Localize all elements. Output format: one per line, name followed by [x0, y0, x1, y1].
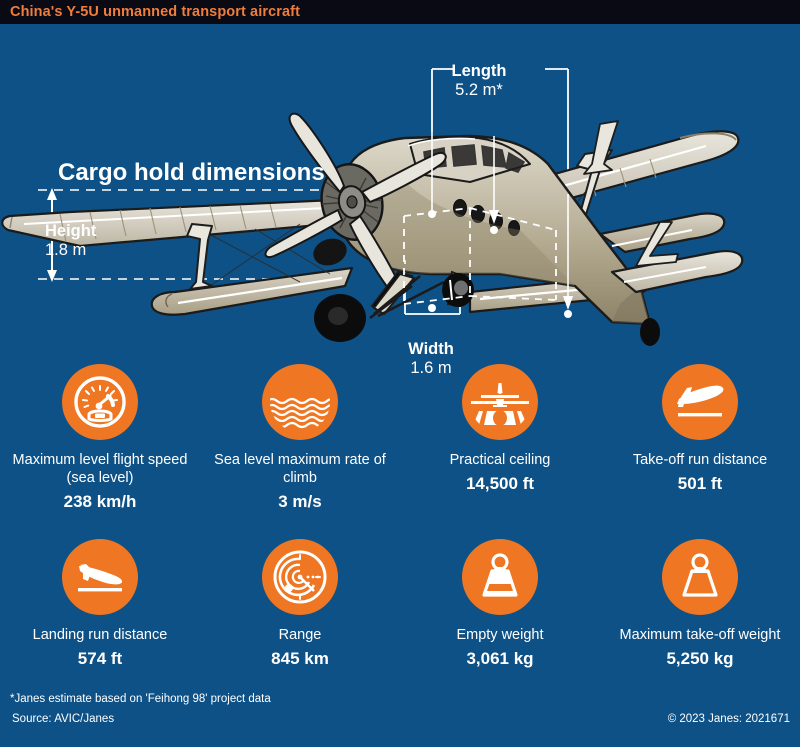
speedometer-icon [62, 364, 138, 440]
stat-practical-ceiling: Practical ceiling 14,500 ft [400, 364, 600, 512]
stat-value: 501 ft [678, 474, 722, 494]
stat-maximum-take-off-weight: Maximum take-off weight 5,250 kg [600, 539, 800, 669]
stat-empty-weight: Empty weight 3,061 kg [400, 539, 600, 669]
stat-value: 845 km [271, 649, 329, 669]
dimension-height: Height 1.8 m [45, 222, 127, 261]
footer: *Janes estimate based on 'Feihong 98' pr… [0, 687, 800, 747]
stat-value: 3,061 kg [466, 649, 533, 669]
stat-landing-run-distance: Landing run distance 574 ft [0, 539, 200, 669]
plane-ceiling-icon [462, 364, 538, 440]
dimension-height-name: Height [45, 222, 127, 241]
stat-row-2: Landing run distance 574 ft [0, 539, 800, 669]
stat-label: Take-off run distance [633, 451, 767, 469]
radar-range-icon [262, 539, 338, 615]
stat-take-off-run-distance: Take-off run distance 501 ft [600, 364, 800, 512]
title-bar: China's Y-5U unmanned transport aircraft [0, 0, 800, 24]
stat-value: 3 m/s [278, 492, 321, 512]
plane-takeoff-icon [662, 364, 738, 440]
sea-waves-icon [262, 364, 338, 440]
dimension-height-value: 1.8 m [45, 241, 127, 260]
dimension-length-value: 5.2 m* [404, 81, 554, 100]
dimension-length: Length 5.2 m* [404, 62, 554, 101]
stat-label: Maximum take-off weight [620, 626, 781, 644]
stat-label: Maximum level flight speed (sea level) [10, 451, 190, 487]
specifications-grid: Maximum level flight speed (sea level) 2… [0, 364, 800, 669]
stat-max-level-flight-speed: Maximum level flight speed (sea level) 2… [0, 364, 200, 512]
dimension-length-name: Length [404, 62, 554, 81]
stat-range: Range 845 km [200, 539, 400, 669]
infographic-root: China's Y-5U unmanned transport aircraft [0, 0, 800, 747]
stat-value: 5,250 kg [666, 649, 733, 669]
stat-label: Practical ceiling [450, 451, 551, 469]
stat-label: Range [279, 626, 322, 644]
stat-row-1: Maximum level flight speed (sea level) 2… [0, 364, 800, 512]
footnote-text: *Janes estimate based on 'Feihong 98' pr… [10, 693, 271, 705]
source-text: Source: AVIC/Janes [12, 713, 114, 725]
copyright-text: © 2023 Janes: 2021671 [668, 713, 790, 725]
page-title: China's Y-5U unmanned transport aircraft [10, 4, 300, 20]
weight-filled-icon [462, 539, 538, 615]
stat-label: Sea level maximum rate of climb [210, 451, 390, 487]
stat-value: 574 ft [78, 649, 122, 669]
weight-outline-icon [662, 539, 738, 615]
aircraft-diagram: Cargo hold dimensions Length 5.2 m* Heig… [0, 24, 800, 364]
plane-landing-icon [62, 539, 138, 615]
cargo-hold-heading: Cargo hold dimensions [58, 159, 325, 187]
stat-value: 238 km/h [64, 492, 137, 512]
stat-value: 14,500 ft [466, 474, 534, 494]
aircraft-illustration [0, 24, 800, 364]
dimension-width-name: Width [376, 340, 486, 359]
stat-label: Empty weight [456, 626, 543, 644]
stat-sea-level-rate-of-climb: Sea level maximum rate of climb 3 m/s [200, 364, 400, 512]
stat-label: Landing run distance [33, 626, 168, 644]
